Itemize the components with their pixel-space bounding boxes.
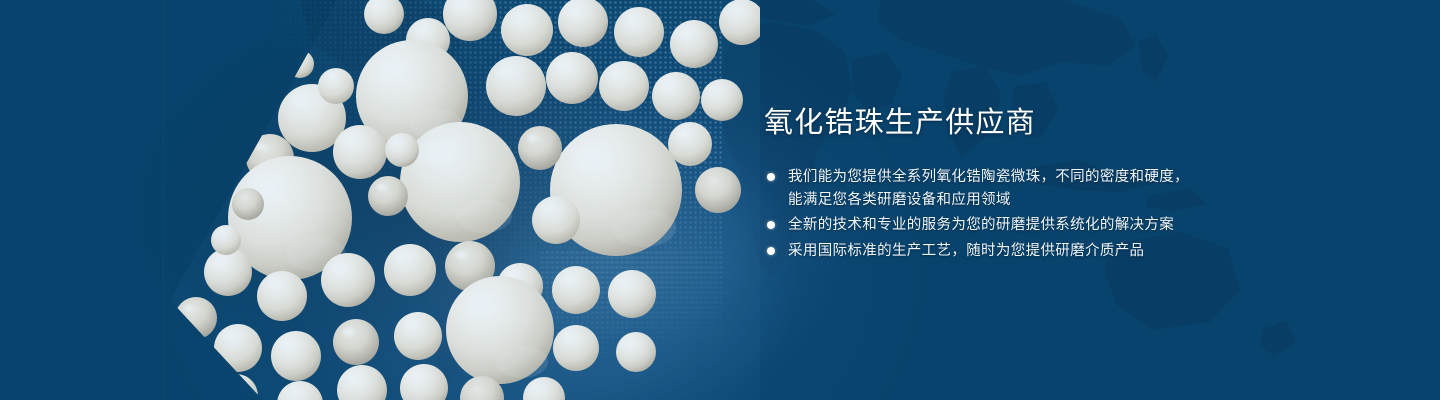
list-item-line-1: 我们能为您提供全系列氧化锆陶瓷微珠，不同的密度和硬度， — [788, 169, 1189, 185]
bullet-dot-icon — [767, 221, 775, 229]
list-item-line-2: 能满足您各类研磨设备和应用领域 — [788, 189, 1234, 212]
list-item: 我们能为您提供全系列氧化锆陶瓷微珠，不同的密度和硬度， 能满足您各类研磨设备和应… — [764, 166, 1234, 211]
hero-banner: 氧化锆珠生产供应商 我们能为您提供全系列氧化锆陶瓷微珠，不同的密度和硬度， 能满… — [0, 0, 1440, 400]
banner-content: 氧化锆珠生产供应商 我们能为您提供全系列氧化锆陶瓷微珠，不同的密度和硬度， 能满… — [764, 104, 1234, 265]
feature-list: 我们能为您提供全系列氧化锆陶瓷微珠，不同的密度和硬度， 能满足您各类研磨设备和应… — [764, 166, 1234, 262]
list-item-line-1: 全新的技术和专业的服务为您的研磨提供系统化的解决方案 — [788, 217, 1174, 233]
page-title: 氧化锆珠生产供应商 — [764, 104, 1234, 142]
bullet-dot-icon — [767, 173, 775, 181]
list-item: 采用国际标准的生产工艺，随时为您提供研磨介质产品 — [764, 240, 1234, 263]
photo-layer-seam — [163, 0, 164, 400]
list-item: 全新的技术和专业的服务为您的研磨提供系统化的解决方案 — [764, 214, 1234, 237]
bullet-dot-icon — [767, 247, 775, 255]
list-item-line-1: 采用国际标准的生产工艺，随时为您提供研磨介质产品 — [788, 243, 1144, 259]
